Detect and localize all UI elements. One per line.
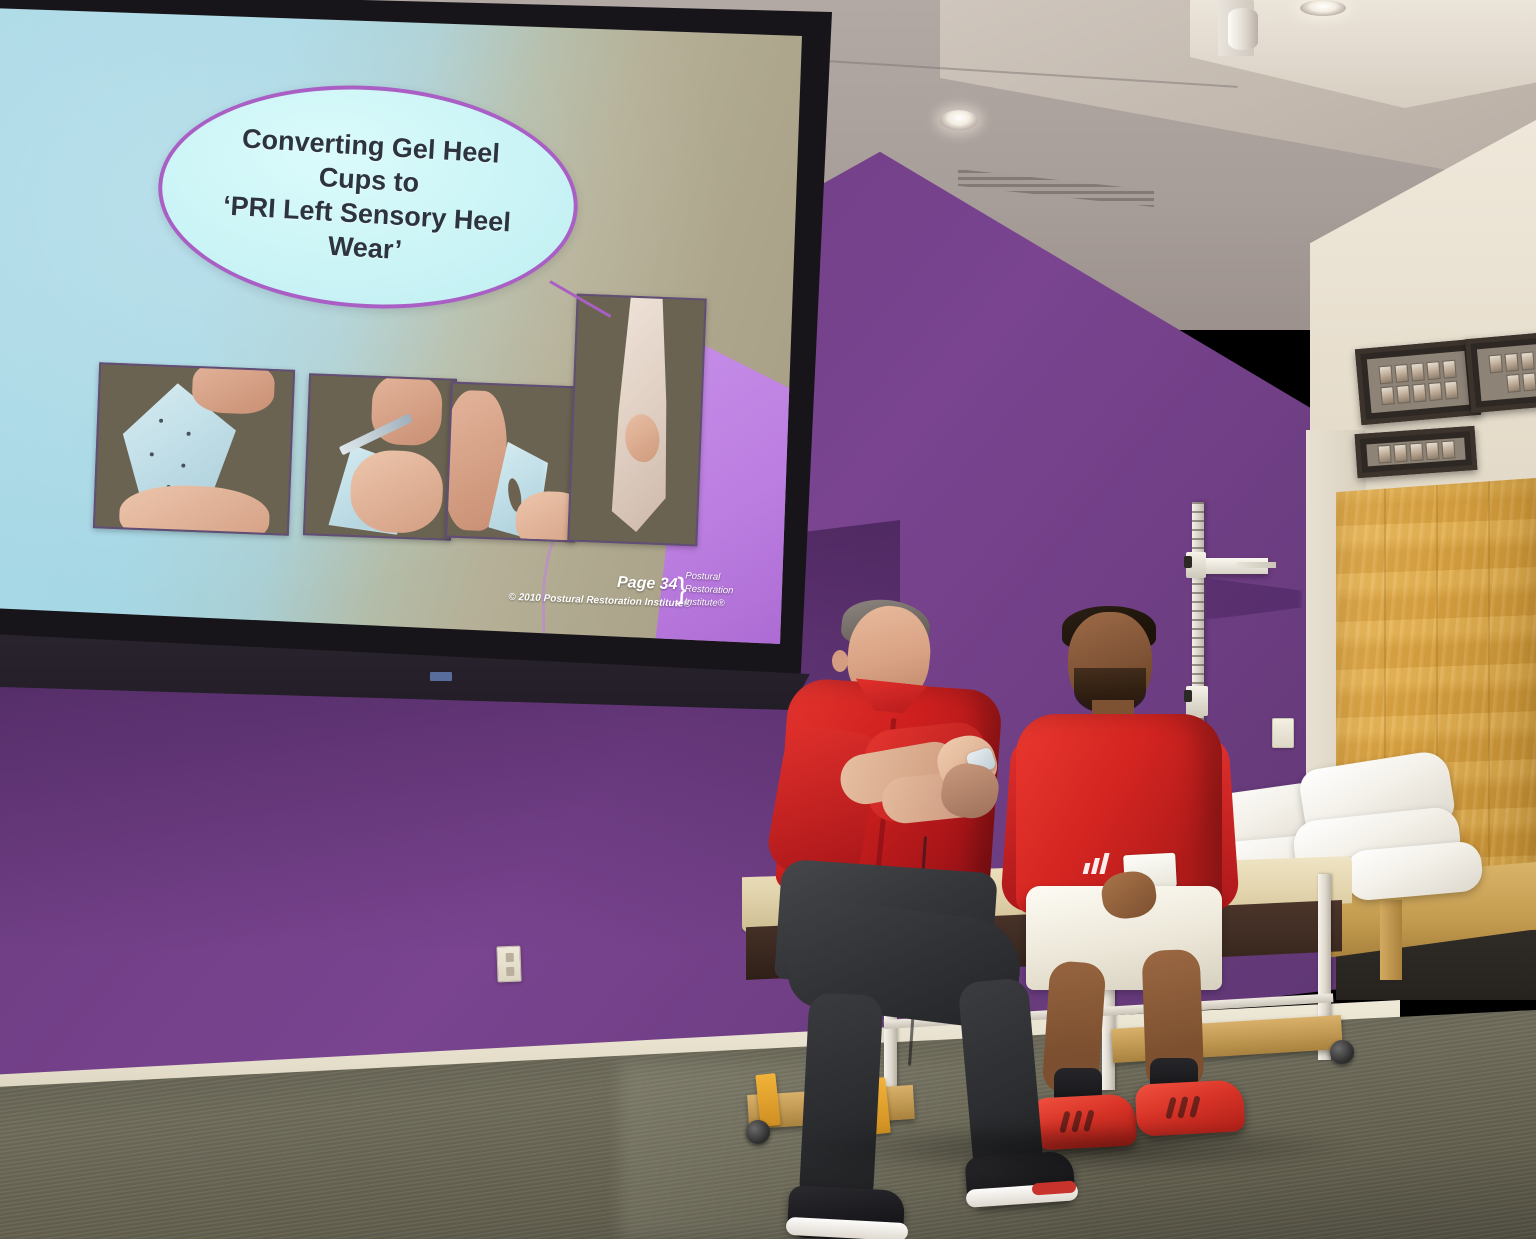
shoe-stripe [1177,1096,1188,1119]
portrait-photo [1409,443,1423,462]
adidas-logo-icon [1084,854,1110,874]
pri-logo-line-3: Institute® [684,596,733,611]
projection-screen-surface: Converting Gel Heel Cups to ‘PRI Left Se… [0,8,802,668]
rail-clip[interactable] [1184,556,1192,568]
portrait-photo [1522,372,1536,391]
rail-arm-extension[interactable] [1236,562,1276,568]
outlet-socket [506,967,514,976]
portrait-photo [1520,351,1535,370]
slide-panel-gel-sheet [93,362,295,535]
table-caster-wheel [1330,1040,1354,1064]
portrait-photo [1380,386,1395,405]
portrait-photo [1394,363,1409,382]
portrait-photo [1506,373,1521,392]
frame-mat [1367,351,1469,413]
portrait-photo [1504,352,1519,371]
presenter-shin-back [799,992,884,1208]
electrical-outlet [496,946,521,983]
hand-shape [349,449,444,534]
wall-picture-frame [1355,426,1478,478]
portrait-photo [1426,361,1441,380]
slide-copyright: © 2010 Postural Restoration Institute® [508,592,691,610]
wall-picture-frame [1465,329,1536,413]
portrait-photo [1410,362,1425,381]
slide-panel-foot-result [567,294,706,547]
outlet-socket [506,953,514,962]
portrait-photo [1441,440,1455,459]
portrait-photo [1425,441,1439,460]
portrait-photo [1377,445,1391,464]
presenter-ear [832,650,848,672]
table-caster-wheel [746,1120,770,1144]
pri-logo: Postural Restoration Institute® [684,571,734,611]
recessed-downlight-icon [940,110,978,130]
screen-label-tab [430,672,452,681]
portrait-photo [1428,382,1443,401]
frame-mat [1366,438,1465,467]
portrait-photo [1378,365,1393,384]
portrait-photo [1396,384,1411,403]
slide-page-number: Page 34 [617,574,678,594]
portrait-photo [1442,359,1457,378]
shoe-stripe [1165,1097,1176,1120]
floor-shadow [800,1122,1360,1174]
bench-leg [1380,900,1402,980]
slide-panel-cutting [303,373,457,541]
portrait-photo [1393,444,1407,463]
projector-arm [1228,8,1258,50]
slide-panel-cutout [445,382,581,543]
room-photo-scene: Converting Gel Heel Cups to ‘PRI Left Se… [0,0,1536,1239]
shoe-stripe [1189,1095,1200,1118]
slide-title-text: Converting Gel Heel Cups to ‘PRI Left Se… [199,119,536,274]
portrait-photo [1412,383,1427,402]
hand-shape [118,483,270,535]
wall-picture-frame [1355,339,1481,425]
recessed-downlight-icon [1300,0,1346,16]
portrait-photo [1444,380,1459,399]
portrait-photo [1488,354,1503,373]
frame-mat [1477,341,1536,401]
hand-shape [191,362,275,415]
